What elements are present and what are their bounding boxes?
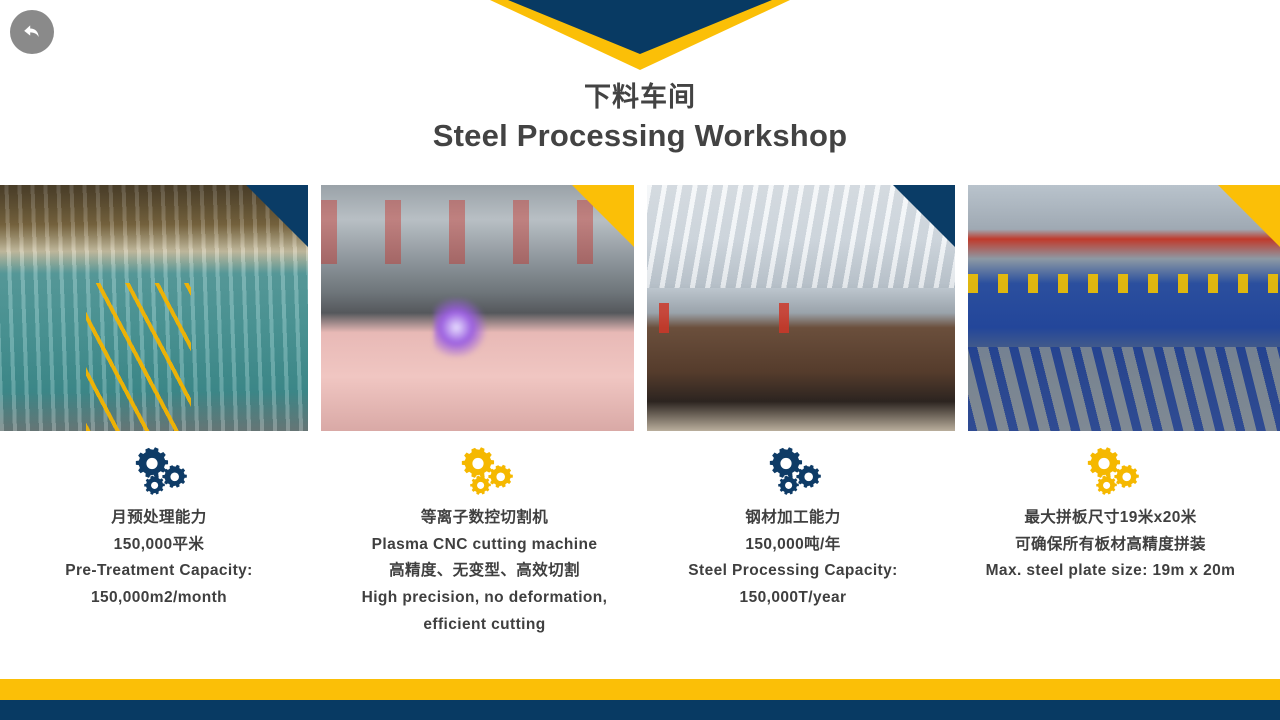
page-title-chinese: 下料车间 (0, 80, 1280, 116)
photo-panel-2[interactable] (321, 185, 634, 431)
feature-line: 钢材加工能力 (645, 505, 941, 532)
feature-block-1: 月预处理能力 150,000平米 Pre-Treatment Capacity:… (0, 443, 318, 612)
feature-3-text: 钢材加工能力 150,000吨/年 Steel Processing Capac… (645, 505, 941, 612)
top-chevron-decoration (490, 0, 790, 70)
feature-4-text: 最大拼板尺寸19米x20米 可确保所有板材高精度拼装 Max. steel pl… (941, 505, 1280, 585)
feature-line: 可确保所有板材高精度拼装 (941, 532, 1280, 559)
feature-block-4: 最大拼板尺寸19米x20米 可确保所有板材高精度拼装 Max. steel pl… (941, 443, 1280, 585)
feature-line: efficient cutting (322, 612, 647, 639)
chevron-inner-navy (508, 0, 772, 54)
feature-line: 月预处理能力 (0, 505, 318, 532)
feature-line: 150,000平米 (0, 532, 318, 559)
feature-line: 最大拼板尺寸19米x20米 (941, 505, 1280, 532)
footer-gold-bar (0, 679, 1280, 700)
feature-line: Plasma CNC cutting machine (322, 532, 647, 559)
gears-icon-navy (0, 443, 318, 501)
page-title: 下料车间 Steel Processing Workshop (0, 80, 1280, 155)
footer-navy-bar (0, 700, 1280, 720)
feature-block-2: 等离子数控切割机 Plasma CNC cutting machine 高精度、… (322, 443, 647, 638)
feature-line: 150,000T/year (645, 585, 941, 612)
gears-icon-navy (645, 443, 941, 501)
back-button[interactable] (10, 10, 54, 54)
plasma-cnc-cutting-photo (321, 185, 634, 431)
photo-panel-row (0, 185, 1280, 431)
photo-panel-1[interactable] (0, 185, 308, 431)
feature-2-text: 等离子数控切割机 Plasma CNC cutting machine 高精度、… (322, 505, 647, 638)
gears-icon-gold (941, 443, 1280, 501)
feature-row: 月预处理能力 150,000平米 Pre-Treatment Capacity:… (0, 443, 1280, 658)
feature-1-text: 月预处理能力 150,000平米 Pre-Treatment Capacity:… (0, 505, 318, 612)
feature-line: Max. steel plate size: 19m x 20m (941, 558, 1280, 585)
pre-treatment-line-photo (0, 185, 308, 431)
feature-line: 150,000吨/年 (645, 532, 941, 559)
feature-line: Steel Processing Capacity: (645, 558, 941, 585)
feature-block-3: 钢材加工能力 150,000吨/年 Steel Processing Capac… (645, 443, 941, 612)
photo-panel-3[interactable] (647, 185, 955, 431)
photo-panel-4[interactable] (968, 185, 1280, 431)
feature-line: Pre-Treatment Capacity: (0, 558, 318, 585)
feature-line: High precision, no deformation, (322, 585, 647, 612)
plate-assembly-bay-photo (968, 185, 1280, 431)
page-title-english: Steel Processing Workshop (0, 116, 1280, 156)
chevron-outer-gold (490, 0, 790, 70)
steel-processing-hall-photo (647, 185, 955, 431)
feature-line: 150,000m2/month (0, 585, 318, 612)
back-arrow-icon (20, 20, 44, 44)
feature-line: 高精度、无变型、高效切割 (322, 558, 647, 585)
gears-icon-gold (322, 443, 647, 501)
feature-line: 等离子数控切割机 (322, 505, 647, 532)
